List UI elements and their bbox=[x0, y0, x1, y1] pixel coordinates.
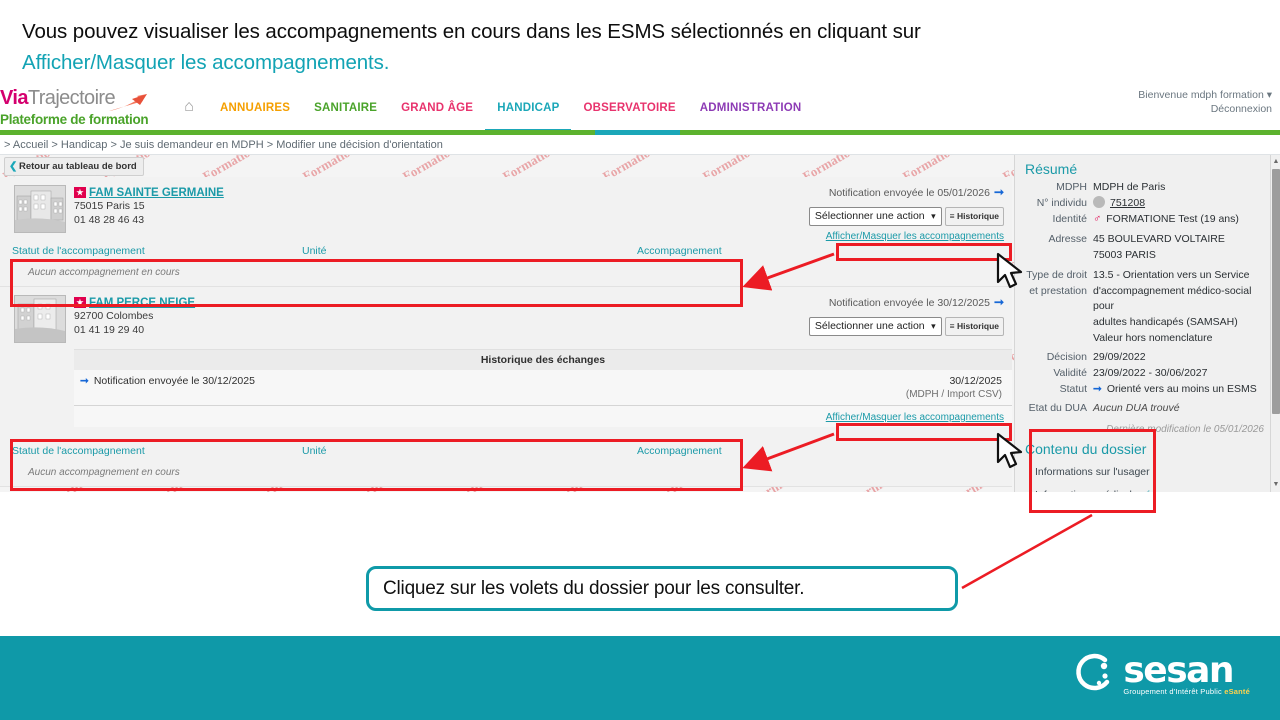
app-header: ViaTrajectoire Plateforme de formation ⌂… bbox=[0, 86, 1280, 130]
chevron-down-icon: ▾ bbox=[1267, 89, 1272, 101]
application-screenshot: ViaTrajectoire Plateforme de formation ⌂… bbox=[0, 86, 1280, 492]
exchange-history-panel: Historique des échanges ➞Notification en… bbox=[74, 349, 1012, 427]
esms-phone: 01 48 28 46 43 bbox=[74, 213, 224, 227]
esms-card: ★FAM SAINTE GERMAINE 75015 Paris 15 01 4… bbox=[0, 177, 1012, 287]
esms-actions: Notification envoyée le 30/12/2025➞ Séle… bbox=[809, 295, 1004, 336]
nav-underline-bar bbox=[0, 130, 1280, 135]
resume-title: Résumé bbox=[1019, 161, 1266, 177]
nav-item-administration[interactable]: ADMINISTRATION bbox=[688, 86, 814, 130]
history-entry-source: (MDPH / Import CSV) bbox=[74, 387, 1012, 405]
sesan-tagline: Groupement d'Intérêt Public eSanté bbox=[1123, 687, 1250, 696]
nav-item-sanitaire[interactable]: SANITAIRE bbox=[302, 86, 389, 130]
sesan-mark-icon bbox=[1073, 651, 1117, 695]
dossier-items-list: Informations sur l'usager Informations m… bbox=[1019, 461, 1266, 492]
scrollbar-thumb[interactable] bbox=[1272, 169, 1280, 414]
col-header-unite: Unité bbox=[302, 245, 637, 257]
sidebar-scrollbar[interactable]: ▲ ▼ bbox=[1270, 155, 1280, 492]
esms-list: ★FAM SAINTE GERMAINE 75015 Paris 15 01 4… bbox=[0, 177, 1012, 487]
main-navigation: ⌂ ANNUAIRES SANITAIRE GRAND ÂGE HANDICAP… bbox=[170, 86, 813, 130]
footer-band: sesan Groupement d'Intérêt Public eSanté bbox=[0, 636, 1280, 720]
esms-city: 75015 Paris 15 bbox=[74, 199, 224, 213]
nav-item-grand-age[interactable]: GRAND ÂGE bbox=[389, 86, 485, 130]
callout-text: Cliquez sur les volets du dossier pour l… bbox=[383, 578, 804, 600]
esms-city: 92700 Colombes bbox=[74, 309, 195, 323]
nav-item-handicap[interactable]: HANDICAP bbox=[485, 86, 571, 130]
user-menu: Bienvenue mdph formation ▾ Déconnexion bbox=[1138, 88, 1272, 116]
sidebar-field-numero-individu: N° individu 751208 bbox=[1019, 196, 1266, 211]
breadcrumb-item-handicap[interactable]: Handicap bbox=[61, 139, 107, 151]
sesan-wordmark: sesan bbox=[1123, 650, 1250, 691]
accompaniment-empty-message: Aucun accompagnement en cours bbox=[0, 461, 1012, 486]
arrow-right-icon: ➞ bbox=[994, 185, 1004, 199]
person-icon: ♂ bbox=[1093, 213, 1101, 225]
sidebar-field-valeur-nomenclature: Valeur hors nomenclature bbox=[1019, 331, 1266, 346]
breadcrumb-item-current: Modifier une décision d'orientation bbox=[276, 139, 443, 151]
logo-word-via: Via bbox=[0, 87, 28, 109]
esms-building-photo bbox=[14, 295, 66, 343]
nav-item-annuaires[interactable]: ANNUAIRES bbox=[208, 86, 302, 130]
esms-phone: 01 41 19 29 40 bbox=[74, 323, 195, 337]
accompaniment-table: Statut de l'accompagnement Unité Accompa… bbox=[0, 439, 1012, 486]
back-to-dashboard-button[interactable]: Retour au tableau de bord bbox=[4, 157, 144, 176]
sidebar-field-type-droit-line3: adultes handicapés (SAMSAH) bbox=[1019, 315, 1266, 330]
viatrajectoire-logo[interactable]: ViaTrajectoire Plateforme de formation bbox=[0, 86, 152, 130]
caption-line-2: Afficher/Masquer les accompagnements. bbox=[22, 49, 1262, 78]
breadcrumb-item-demandeur[interactable]: Je suis demandeur en MDPH bbox=[120, 139, 264, 151]
sidebar-field-decision: Décision29/09/2022 bbox=[1019, 350, 1266, 365]
history-title: Historique des échanges bbox=[74, 349, 1012, 370]
col-header-accompagnement: Accompagnement bbox=[637, 445, 1002, 457]
breadcrumb: > Accueil > Handicap > Je suis demandeur… bbox=[0, 135, 1280, 155]
sidebar-field-statut: Statut ➞Orienté vers au moins un ESMS bbox=[1019, 382, 1266, 397]
select-action-dropdown[interactable]: Sélectionner une action bbox=[809, 207, 942, 226]
history-entry-date: 30/12/2025 bbox=[949, 375, 1002, 387]
caption-line-1: Vous pouvez visualiser les accompagnemen… bbox=[22, 18, 1262, 46]
arrow-right-icon: ➞ bbox=[994, 295, 1004, 309]
logo-word-trajectoire: Trajectoire bbox=[28, 87, 115, 109]
medical-icon: ⚕ bbox=[1146, 489, 1152, 492]
logo-arrow-icon bbox=[107, 92, 149, 114]
favorite-badge-icon: ★ bbox=[74, 187, 86, 198]
esms-card: ★FAM PERCE NEIGE 92700 Colombes 01 41 19… bbox=[0, 287, 1012, 487]
dossier-content-title: Contenu du dossier bbox=[1019, 441, 1266, 457]
welcome-label[interactable]: Bienvenue mdph formation ▾ bbox=[1138, 88, 1272, 102]
historique-button[interactable]: ≡ Historique bbox=[945, 317, 1004, 336]
instruction-callout: Cliquez sur les volets du dossier pour l… bbox=[366, 566, 958, 611]
favorite-badge-icon: ★ bbox=[74, 297, 86, 308]
dossier-item-informations-usager[interactable]: Informations sur l'usager bbox=[1027, 461, 1266, 484]
sesan-logo: sesan Groupement d'Intérêt Public eSanté bbox=[1073, 650, 1250, 706]
dossier-sidebar: Résumé MDPHMDPH de Paris N° individu 751… bbox=[1014, 155, 1280, 492]
sidebar-field-type-droit-line2: et prestationd'accompagnement médico-soc… bbox=[1019, 284, 1266, 314]
numero-individu-link[interactable]: 751208 bbox=[1110, 197, 1145, 209]
accompaniment-empty-message: Aucun accompagnement en cours bbox=[0, 261, 1012, 286]
sidebar-field-type-droit: Type de droit13.5 - Orientation vers un … bbox=[1019, 268, 1266, 283]
avatar bbox=[1093, 196, 1105, 208]
home-icon[interactable]: ⌂ bbox=[170, 98, 208, 118]
esms-name-link[interactable]: FAM PERCE NEIGE bbox=[89, 297, 195, 309]
sidebar-field-mdph: MDPHMDPH de Paris bbox=[1019, 180, 1266, 195]
esms-name-link[interactable]: FAM SAINTE GERMAINE bbox=[89, 187, 224, 199]
scroll-up-icon[interactable]: ▲ bbox=[1272, 157, 1280, 167]
arrow-right-icon: ➞ bbox=[1093, 383, 1102, 395]
nav-active-indicator bbox=[595, 130, 680, 135]
notification-status: Notification envoyée le 05/01/2026➞ bbox=[809, 185, 1004, 199]
breadcrumb-sep: > bbox=[4, 139, 10, 151]
dossier-item-informations-medicales[interactable]: Informations médicales⚕ bbox=[1027, 484, 1266, 492]
sidebar-field-adresse-line2: 75003 PARIS bbox=[1019, 248, 1266, 263]
notification-status: Notification envoyée le 30/12/2025➞ bbox=[809, 295, 1004, 309]
esms-actions: Notification envoyée le 05/01/2026➞ Séle… bbox=[809, 185, 1004, 244]
sidebar-field-identite: Identité ♂FORMATIONE Test (19 ans) bbox=[1019, 212, 1266, 227]
scroll-down-icon[interactable]: ▼ bbox=[1272, 480, 1280, 490]
historique-button[interactable]: ≡ Historique bbox=[945, 207, 1004, 226]
arrow-right-icon: ➞ bbox=[80, 375, 89, 387]
history-entry: ➞Notification envoyée le 30/12/2025 bbox=[80, 375, 255, 387]
col-header-statut: Statut de l'accompagnement bbox=[12, 445, 302, 457]
accompaniment-table: Statut de l'accompagnement Unité Accompa… bbox=[0, 239, 1012, 286]
history-footer: Afficher/Masquer les accompagnements bbox=[74, 405, 1012, 427]
col-header-accompagnement: Accompagnement bbox=[637, 245, 1002, 257]
breadcrumb-item-accueil[interactable]: Accueil bbox=[13, 139, 48, 151]
esms-name: ★FAM PERCE NEIGE bbox=[74, 297, 195, 309]
sidebar-field-validite: Validité23/09/2022 - 30/06/2027 bbox=[1019, 366, 1266, 381]
logo-subtitle: Plateforme de formation bbox=[0, 112, 148, 127]
sidebar-field-etat-dua: Etat du DUAAucun DUA trouvé bbox=[1019, 401, 1266, 416]
toggle-accompagnements-link[interactable]: Afficher/Masquer les accompagnements bbox=[826, 231, 1004, 242]
toggle-accompagnements-link[interactable]: Afficher/Masquer les accompagnements bbox=[826, 412, 1004, 423]
last-modified-label: Dernière modification le 05/01/2026 bbox=[1019, 424, 1266, 435]
esms-name: ★FAM SAINTE GERMAINE bbox=[74, 187, 224, 199]
col-header-unite: Unité bbox=[302, 445, 637, 457]
nav-item-observatoire[interactable]: OBSERVATOIRE bbox=[571, 86, 687, 130]
page-body: FormationFormationFormationFormationForm… bbox=[0, 155, 1280, 492]
col-header-statut: Statut de l'accompagnement bbox=[12, 245, 302, 257]
logout-link[interactable]: Déconnexion bbox=[1138, 102, 1272, 116]
arrow-dossier-to-callout bbox=[962, 515, 1092, 588]
sidebar-field-adresse: Adresse45 BOULEVARD VOLTAIRE bbox=[1019, 232, 1266, 247]
select-action-dropdown[interactable]: Sélectionner une action bbox=[809, 317, 942, 336]
slide-caption: Vous pouvez visualiser les accompagnemen… bbox=[22, 18, 1262, 77]
esms-building-photo bbox=[14, 185, 66, 233]
